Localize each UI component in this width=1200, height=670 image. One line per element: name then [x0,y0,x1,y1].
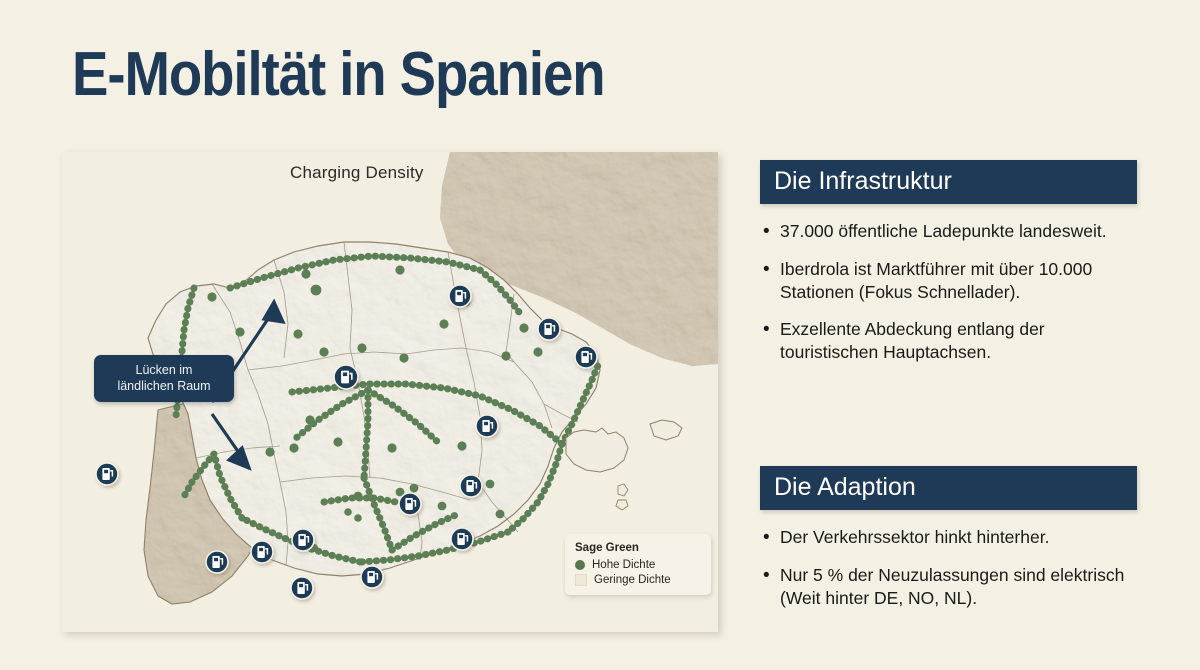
page-title: E-Mobiltät in Spanien [72,44,605,106]
legend-label-low-density: Geringe Dichte [594,574,671,586]
map-title: Charging Density [284,162,430,184]
bullet-list-infrastruktur: 37.000 öffentliche Ladepunkte landesweit… [760,204,1137,364]
charging-station-pin [399,493,421,515]
rural-gaps-callout: Lücken im ländlichen Raum [94,355,234,402]
charging-station-pin [476,415,498,437]
charging-station-pin [451,528,473,550]
bullet-item: Iberdrola ist Marktführer mit über 10.00… [760,258,1137,305]
map-legend: Sage Green Hohe Dichte Geringe Dichte [565,534,711,595]
charging-station-pin [460,475,482,497]
info-block-adaption: Die Adaption Der Verkehrssektor hinkt hi… [760,466,1137,624]
legend-label-high-density: Hohe Dichte [592,559,655,571]
block-header-infrastruktur: Die Infrastruktur [760,160,1137,204]
charging-station-pin [96,463,118,485]
charging-station-pin [361,566,383,588]
bullet-item: Nur 5 % der Neuzulassungen sind elektris… [760,564,1137,611]
charging-station-pin [538,318,560,340]
bullet-item: Exzellente Abdeckung entlang der tourist… [760,318,1137,365]
bullet-list-adaption: Der Verkehrssektor hinkt hinterher. Nur … [760,510,1137,610]
legend-item-low-density: Geringe Dichte [575,574,701,586]
charging-station-pin [334,365,358,389]
bullet-item: Der Verkehrssektor hinkt hinterher. [760,526,1137,549]
pale-square-icon [575,574,587,586]
bullet-item: 37.000 öffentliche Ladepunkte landesweit… [760,220,1137,243]
callout-line-2: ländlichen Raum [100,378,228,394]
charging-station-pin [206,551,228,573]
charging-station-pin [575,346,597,368]
legend-item-high-density: Hohe Dichte [575,559,701,571]
green-dot-icon [575,560,585,570]
charging-station-pin [291,577,313,599]
legend-title: Sage Green [575,542,701,554]
charging-station-pin [292,529,314,551]
info-block-infrastruktur: Die Infrastruktur 37.000 öffentliche Lad… [760,160,1137,379]
charging-station-pin [449,285,471,307]
charging-station-pin [251,541,273,563]
callout-line-1: Lücken im [100,362,228,378]
block-header-adaption: Die Adaption [760,466,1137,510]
map-panel[interactable]: Charging Density Lücken im ländlichen Ra… [62,152,718,632]
